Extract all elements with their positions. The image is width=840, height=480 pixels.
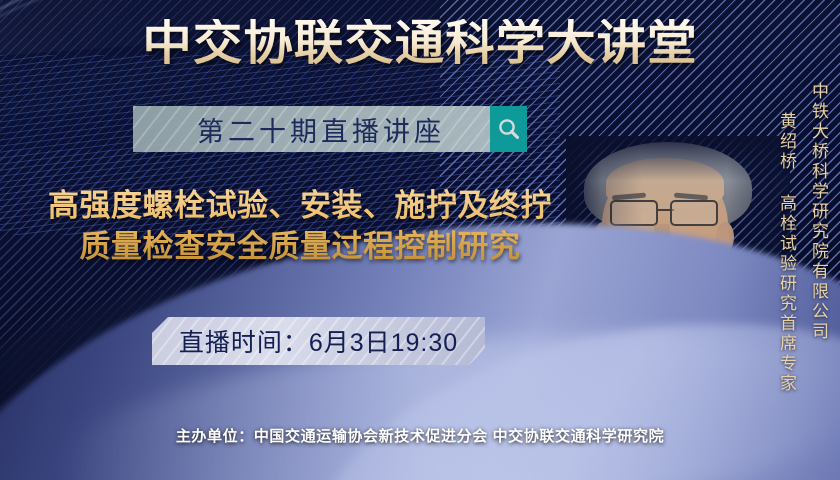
search-icon bbox=[496, 116, 522, 142]
glasses-icon bbox=[608, 200, 720, 224]
organizer-footer: 主办单位：中国交通运输协会新技术促进分会 中交协联交通科学研究院 bbox=[0, 425, 840, 446]
live-lecture-poster: 中交协联交通科学大讲堂 第二十期直播讲座 高强度螺栓试验、安装、施拧及终拧 质量… bbox=[0, 0, 840, 480]
speaker-organization: 中铁大桥科学研究院有限公司 bbox=[808, 82, 828, 342]
topic-line-1: 高强度螺栓试验、安装、施拧及终拧 bbox=[0, 186, 600, 227]
search-icon-box[interactable] bbox=[490, 106, 527, 152]
speaker-name-role: 黄绍桥 高栓试验研究首席专家 bbox=[776, 112, 796, 394]
lecture-topic: 高强度螺栓试验、安装、施拧及终拧 质量检查安全质量过程控制研究 bbox=[0, 186, 600, 268]
live-time-badge: 直播时间：6月3日19:30 bbox=[152, 317, 485, 365]
page-title: 中交协联交通科学大讲堂 bbox=[0, 19, 840, 67]
live-time-label: 直播时间：6月3日19:30 bbox=[179, 323, 458, 359]
topic-line-2: 质量检查安全质量过程控制研究 bbox=[0, 227, 600, 268]
episode-label: 第二十期直播讲座 bbox=[133, 110, 527, 149]
episode-banner: 第二十期直播讲座 bbox=[133, 106, 527, 152]
